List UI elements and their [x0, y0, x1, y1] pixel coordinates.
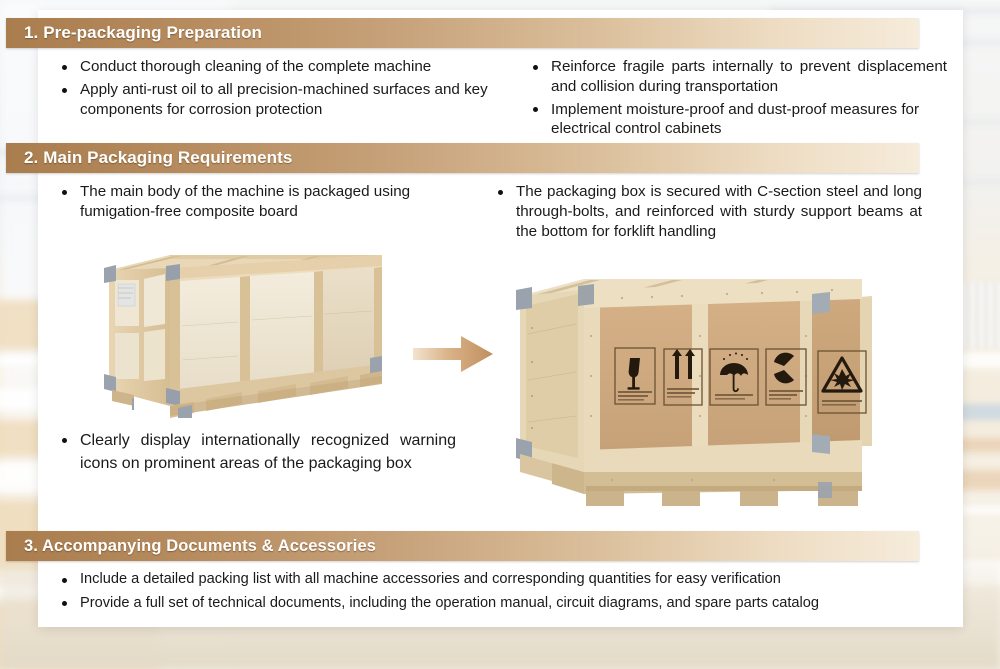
bullet-list: Conduct thorough cleaning of the complet…	[56, 57, 511, 119]
section-header-2: 2. Main Packaging Requirements	[6, 143, 919, 173]
section-2-left-list: The main body of the machine is packaged…	[56, 182, 466, 225]
process-arrow-icon	[413, 332, 493, 376]
section-2-right-list: The packaging box is secured with C-sect…	[492, 182, 922, 244]
bullet-list: The packaging box is secured with C-sect…	[492, 182, 922, 241]
right-crate-image	[512, 276, 872, 508]
list-item: Include a detailed packing list with all…	[56, 570, 936, 590]
section-3-title: 3. Accompanying Documents & Accessories	[6, 537, 376, 556]
section-1-title: 1. Pre-packaging Preparation	[6, 23, 262, 43]
section-3-list: Include a detailed packing list with all…	[56, 570, 936, 617]
section-header-3: 3. Accompanying Documents & Accessories	[6, 531, 919, 561]
left-crate-image	[82, 248, 392, 418]
section-2-left-list-lower: Clearly display internationally recogniz…	[56, 430, 456, 478]
list-item: The packaging box is secured with C-sect…	[492, 182, 922, 241]
list-item: Reinforce fragile parts internally to pr…	[527, 57, 947, 97]
bullet-list: Clearly display internationally recogniz…	[56, 430, 456, 475]
bullet-list: Include a detailed packing list with all…	[56, 570, 936, 613]
section-1-right-list: Reinforce fragile parts internally to pr…	[527, 57, 947, 142]
list-item: Conduct thorough cleaning of the complet…	[56, 57, 511, 77]
list-item: Clearly display internationally recogniz…	[56, 430, 456, 475]
list-item: Implement moisture-proof and dust-proof …	[527, 100, 947, 140]
bullet-list: The main body of the machine is packaged…	[56, 182, 466, 222]
section-1-left-list: Conduct thorough cleaning of the complet…	[56, 57, 511, 122]
list-item: Provide a full set of technical document…	[56, 594, 936, 614]
bullet-list: Reinforce fragile parts internally to pr…	[527, 57, 947, 139]
section-2-title: 2. Main Packaging Requirements	[6, 148, 292, 168]
section-header-1: 1. Pre-packaging Preparation	[6, 18, 919, 48]
list-item: The main body of the machine is packaged…	[56, 182, 466, 222]
list-item: Apply anti-rust oil to all precision-mac…	[56, 80, 511, 120]
